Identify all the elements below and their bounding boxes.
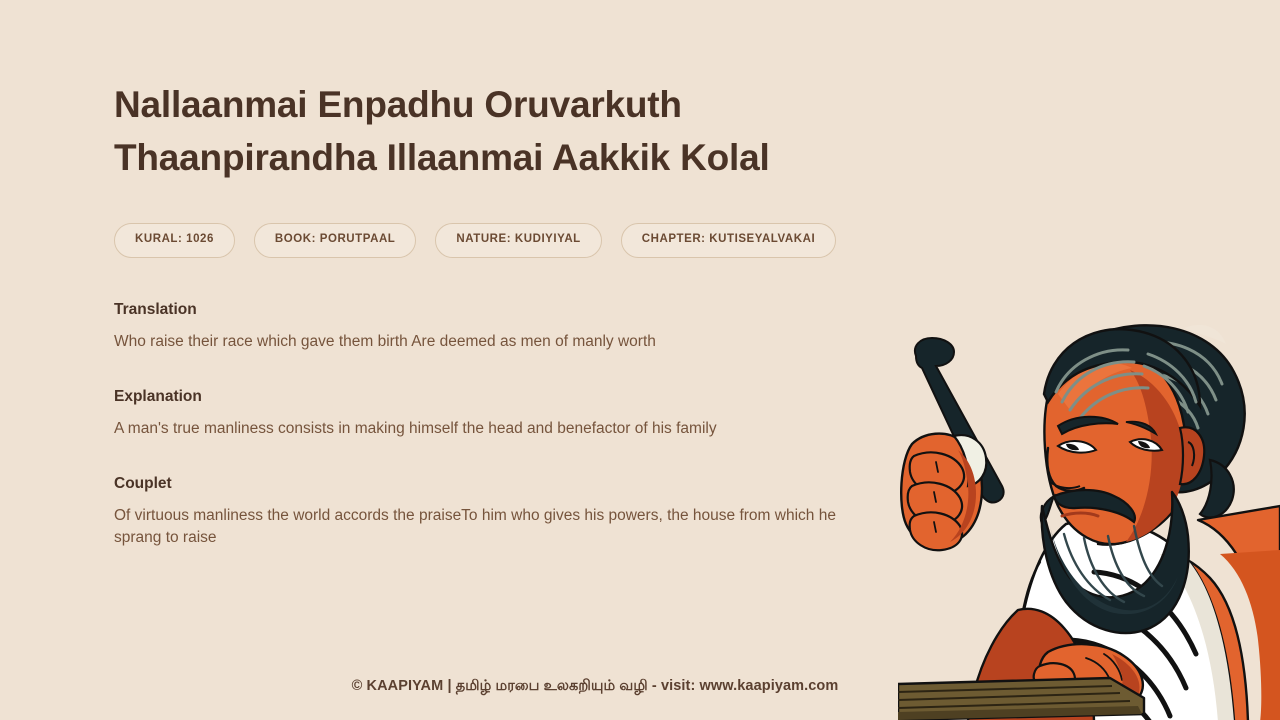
section-explanation: Explanation A man's true manliness consi… (114, 387, 934, 440)
thiruvalluvar-writing-illustration (898, 310, 1280, 720)
meta-badge-list: KURAL: 1026 BOOK: PORUTPAAL NATURE: KUDI… (114, 223, 934, 258)
section-label-couplet: Couplet (114, 474, 934, 494)
section-text-couplet: Of virtuous manliness the world accords … (114, 505, 874, 549)
section-text-translation: Who raise their race which gave them bir… (114, 331, 874, 353)
footer-credit: © KAAPIYAM | தமிழ் மரபை உலகறியும் வழி - … (0, 678, 1190, 696)
kural-card-page: Nallaanmai Enpadhu Oruvarkuth Thaanpiran… (0, 0, 1280, 720)
section-translation: Translation Who raise their race which g… (114, 300, 934, 353)
section-label-translation: Translation (114, 300, 934, 320)
page-title: Nallaanmai Enpadhu Oruvarkuth Thaanpiran… (114, 0, 934, 184)
section-label-explanation: Explanation (114, 387, 934, 407)
badge-book: BOOK: PORUTPAAL (254, 223, 416, 258)
section-couplet: Couplet Of virtuous manliness the world … (114, 474, 934, 549)
kural-content: Nallaanmai Enpadhu Oruvarkuth Thaanpiran… (114, 0, 934, 549)
badge-nature: NATURE: KUDIYIYAL (435, 223, 601, 258)
section-text-explanation: A man's true manliness consists in makin… (114, 418, 874, 440)
badge-kural: KURAL: 1026 (114, 223, 235, 258)
badge-chapter: CHAPTER: KUTISEYALVAKAI (621, 223, 836, 258)
